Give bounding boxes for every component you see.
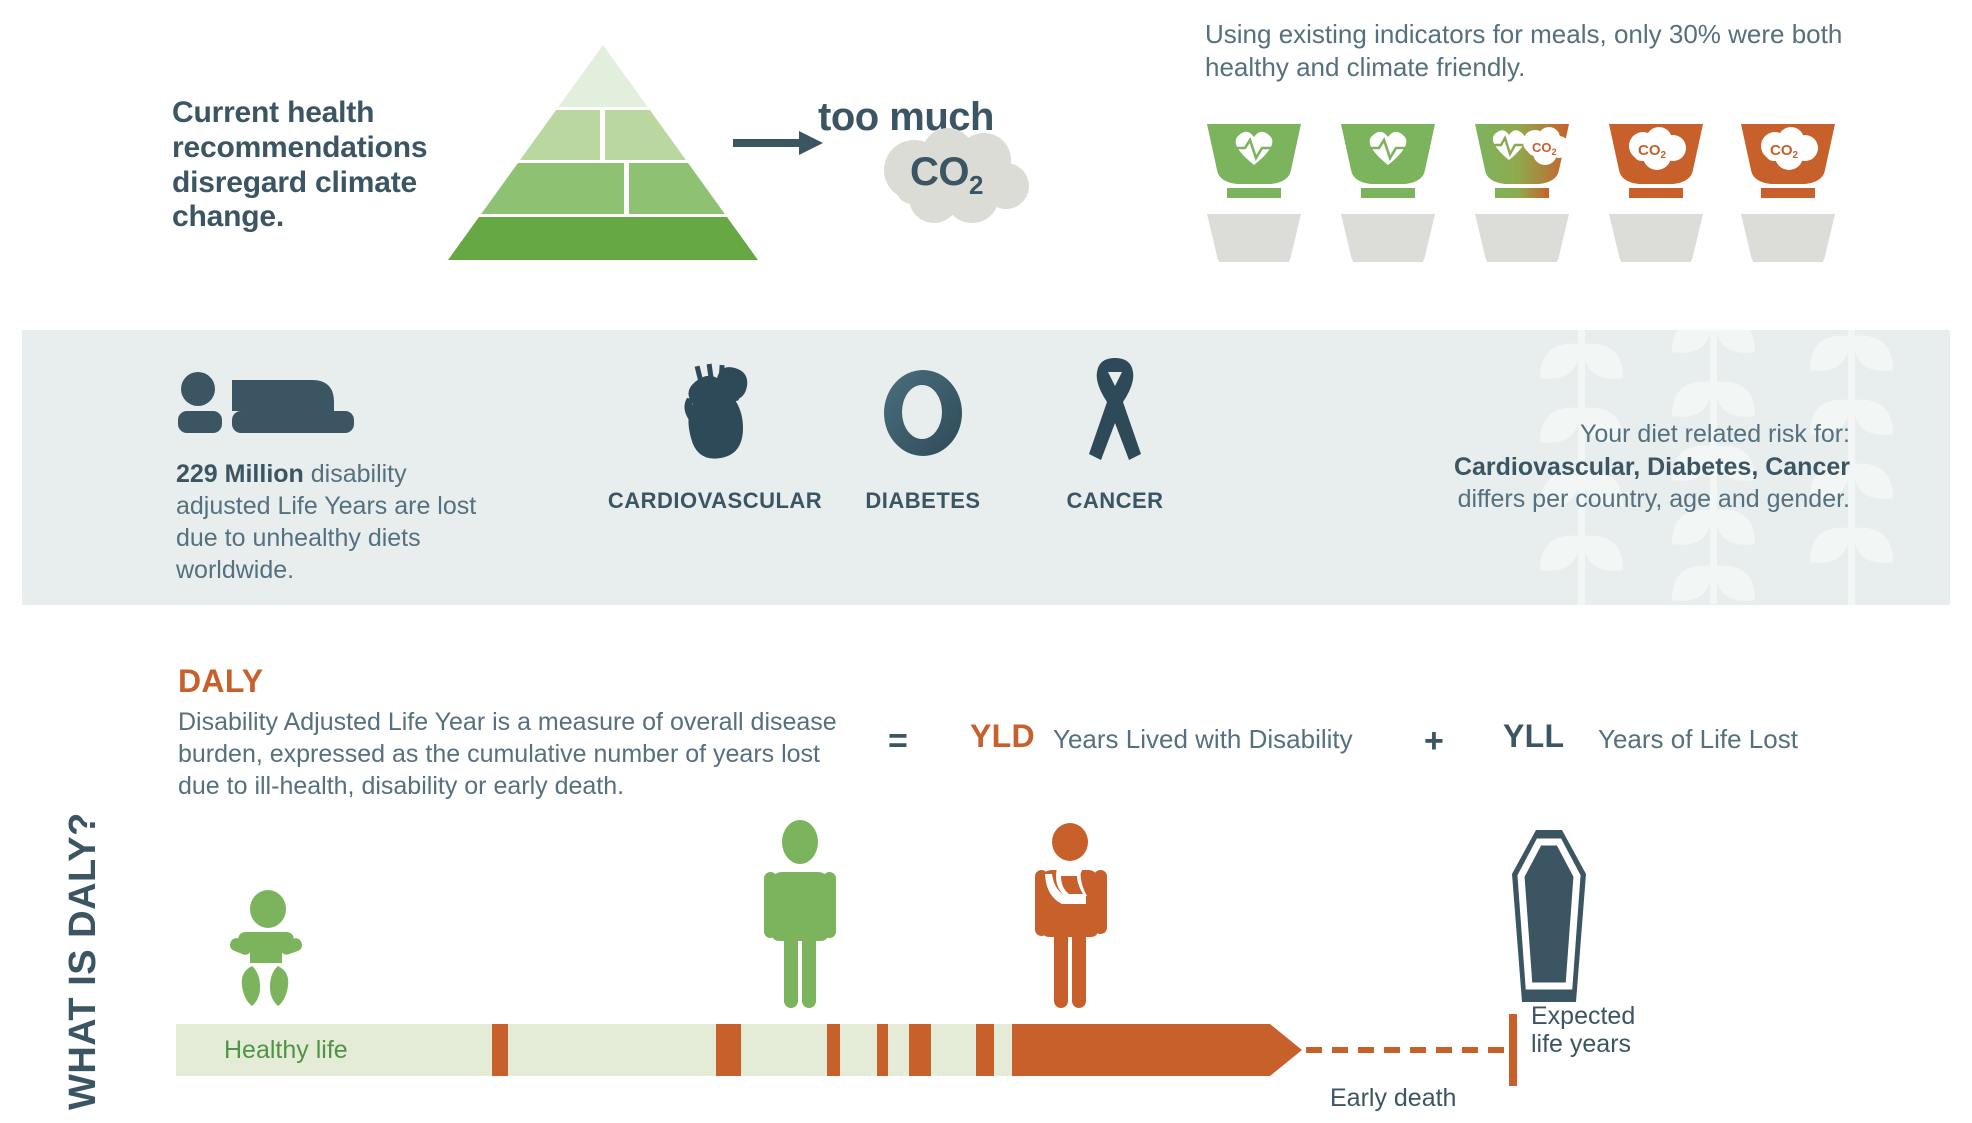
section-title-vertical: WHAT IS DALY?: [62, 170, 110, 640]
yll-label: Years of Life Lost: [1598, 724, 1798, 755]
food-pyramid: [448, 45, 758, 260]
daly-description: Disability Adjusted Life Year is a measu…: [178, 706, 838, 802]
baby-figure: [222, 890, 302, 1008]
daly-million-number: 229 Million: [176, 460, 304, 488]
ill-adult-figure: [1032, 820, 1114, 1008]
plus-sign: +: [1424, 722, 1444, 761]
meals-caption: Using existing indicators for meals, onl…: [1205, 18, 1845, 85]
expected-life-years-label: Expected life years: [1531, 1002, 1671, 1058]
illness-tick: [877, 1024, 888, 1076]
equals-sign: =: [888, 722, 908, 761]
expected-life-years-marker: [1509, 1014, 1517, 1086]
daly-acronym: DALY: [178, 663, 263, 700]
early-death-label: Early death: [1330, 1084, 1456, 1113]
illness-tick: [716, 1024, 741, 1076]
person-lying-in-bed-icon: [176, 372, 354, 434]
disease-cancer: CANCER: [1000, 362, 1230, 514]
co2-cloud-icon: CO2: [880, 128, 1030, 223]
illness-tick: [976, 1024, 994, 1076]
healthy-life-label: Healthy life: [224, 1036, 348, 1065]
yld-label: Years Lived with Disability: [1053, 724, 1353, 755]
illness-tick: [827, 1024, 840, 1076]
diet-risk-text: Your diet related risk for: Cardiovascul…: [1390, 418, 1850, 516]
disease-cardiovascular: CARDIOVASCULAR: [600, 362, 830, 514]
yld-abbr: YLD: [970, 718, 1035, 755]
coffin-figure: [1498, 828, 1600, 1008]
disease-disability-arrow: Disease or Disability: [1012, 1024, 1302, 1076]
co2-label: CO2: [910, 150, 983, 201]
awareness-ribbon-icon: [1000, 362, 1230, 462]
healthy-adult-figure: [760, 820, 840, 1008]
daly-million-stat: 229 Million disability adjusted Life Yea…: [176, 458, 486, 586]
bowl-indicator-row: CO2 CO2: [1205, 122, 1835, 262]
illness-tick: [909, 1024, 931, 1076]
risk-diseases-bold: Cardiovascular, Diabetes, Cancer: [1454, 453, 1850, 481]
disease-disability-label: Disease or Disability: [1886, 1036, 1972, 1123]
life-timeline: Healthy life Disease or Disability Early…: [176, 1024, 1956, 1076]
yll-abbr: YLL: [1503, 718, 1564, 755]
risk-line-3: differs per country, age and gender.: [1390, 483, 1850, 516]
early-death-dashed-line: [1306, 1047, 1506, 1053]
disease-label: CARDIOVASCULAR: [600, 488, 830, 514]
illness-tick: [492, 1024, 508, 1076]
heart-anatomy-icon: [600, 362, 830, 462]
risk-line-1: Your diet related risk for:: [1390, 418, 1850, 451]
headline-text: Current health recommendations disregard…: [172, 96, 472, 235]
arrow-right-icon: [733, 130, 823, 156]
disease-label: CANCER: [1000, 488, 1230, 514]
